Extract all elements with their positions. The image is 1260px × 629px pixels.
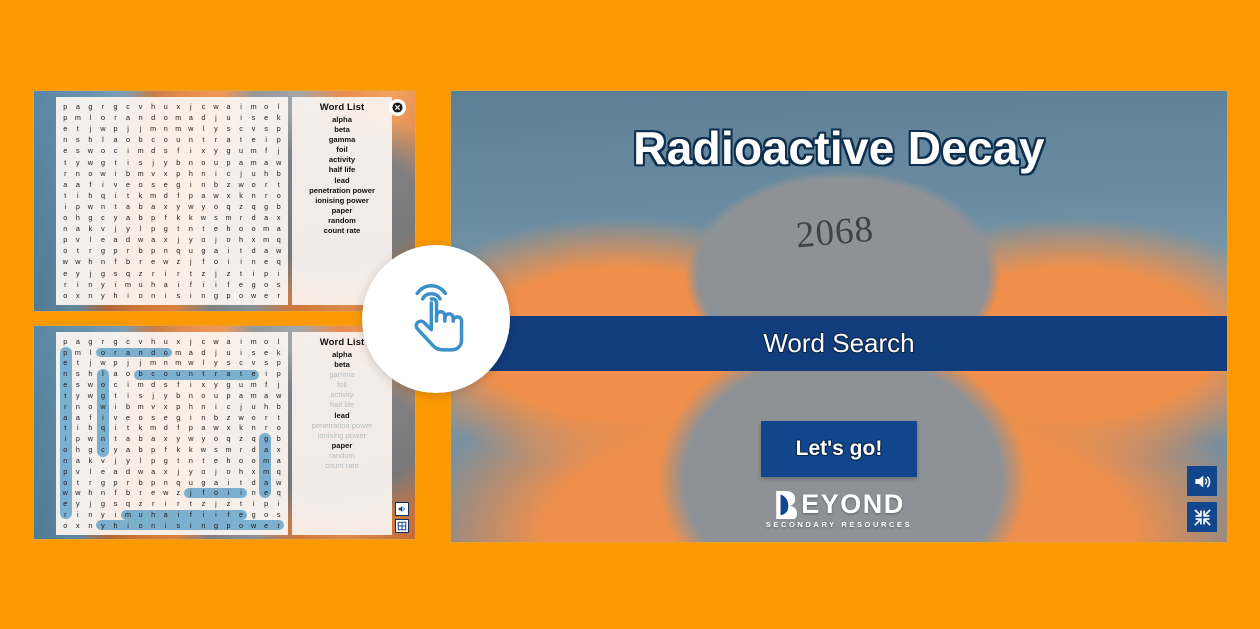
grid-cell[interactable]: i (172, 509, 185, 520)
grid-cell[interactable]: o (97, 347, 110, 358)
grid-cell[interactable]: o (59, 245, 72, 256)
grid-cell[interactable]: y (109, 444, 122, 455)
grid-cell[interactable]: i (272, 498, 285, 509)
grid-cell[interactable]: r (260, 179, 273, 190)
grid-cell[interactable]: l (272, 336, 285, 347)
grid-cell[interactable]: x (172, 336, 185, 347)
grid-cell[interactable]: x (159, 401, 172, 412)
grid-cell[interactable]: a (72, 101, 85, 112)
grid-cell[interactable]: m (122, 279, 135, 290)
grid-cell[interactable]: n (59, 455, 72, 466)
grid-cell[interactable]: c (97, 444, 110, 455)
grid-cell[interactable]: f (197, 488, 210, 499)
grid-cell[interactable]: n (247, 257, 260, 268)
grid-cell[interactable]: q (247, 433, 260, 444)
grid-cell[interactable]: i (122, 390, 135, 401)
grid-cell[interactable]: n (147, 520, 160, 531)
grid-cell[interactable]: a (159, 279, 172, 290)
grid-cell[interactable]: r (147, 498, 160, 509)
grid-cell[interactable]: r (210, 134, 223, 145)
grid-cell[interactable]: f (185, 509, 198, 520)
grid-cell[interactable]: e (247, 368, 260, 379)
grid-cell[interactable]: p (222, 390, 235, 401)
grid-cell[interactable]: c (222, 401, 235, 412)
grid-cell[interactable]: e (235, 509, 248, 520)
grid-cell[interactable]: f (84, 412, 97, 423)
grid-cell[interactable]: m (172, 347, 185, 358)
grid-cell[interactable]: w (235, 179, 248, 190)
grid-cell[interactable]: m (147, 423, 160, 434)
grid-cell[interactable]: a (122, 444, 135, 455)
grid-cell[interactable]: x (159, 168, 172, 179)
grid-cell[interactable]: e (59, 123, 72, 134)
grid-cell[interactable]: g (247, 509, 260, 520)
grid-cell[interactable]: e (59, 358, 72, 369)
grid-cell[interactable]: q (172, 477, 185, 488)
grid-cell[interactable]: m (134, 145, 147, 156)
grid-cell[interactable]: o (235, 520, 248, 531)
grid-cell[interactable]: a (122, 112, 135, 123)
grid-cell[interactable]: c (147, 134, 160, 145)
grid-cell[interactable]: a (109, 368, 122, 379)
grid-cell[interactable]: t (72, 123, 85, 134)
grid-cell[interactable]: p (222, 520, 235, 531)
grid-cell[interactable]: o (222, 466, 235, 477)
grid-cell[interactable]: r (172, 498, 185, 509)
grid-cell[interactable]: s (109, 268, 122, 279)
grid-cell[interactable]: i (72, 279, 85, 290)
grid-cell[interactable]: k (172, 444, 185, 455)
grid-cell[interactable]: b (272, 401, 285, 412)
grid-cell[interactable]: n (197, 401, 210, 412)
grid-cell[interactable]: x (197, 145, 210, 156)
grid-cell[interactable]: g (97, 245, 110, 256)
grid-cell[interactable]: b (122, 257, 135, 268)
grid-cell[interactable]: t (197, 368, 210, 379)
grid-cell[interactable]: a (235, 157, 248, 168)
wordsearch-grid-card-unsolved[interactable]: pagrgcvhuxjcwaimolpmlorandomadjuiseketjw… (56, 97, 288, 305)
grid-cell[interactable]: a (109, 234, 122, 245)
grid-cell[interactable]: v (134, 336, 147, 347)
grid-cell[interactable]: w (235, 412, 248, 423)
grid-cell[interactable]: l (84, 234, 97, 245)
grid-cell[interactable]: r (109, 112, 122, 123)
grid-cell[interactable]: a (122, 201, 135, 212)
grid-cell[interactable]: w (84, 379, 97, 390)
grid-cell[interactable]: q (122, 268, 135, 279)
grid-cell[interactable]: p (260, 268, 273, 279)
grid-cell[interactable]: l (84, 112, 97, 123)
sound-icon[interactable] (395, 502, 409, 516)
grid-cell[interactable]: z (134, 268, 147, 279)
grid-cell[interactable]: n (84, 290, 97, 301)
grid-cell[interactable]: r (235, 212, 248, 223)
grid-cell[interactable]: r (134, 257, 147, 268)
grid-cell[interactable]: b (134, 444, 147, 455)
grid-cell[interactable]: g (97, 498, 110, 509)
grid-cell[interactable]: c (235, 358, 248, 369)
grid-cell[interactable]: e (147, 257, 160, 268)
grid-cell[interactable]: j (210, 268, 223, 279)
grid-cell[interactable]: w (210, 336, 223, 347)
grid-cell[interactable]: e (159, 412, 172, 423)
grid-cell[interactable]: z (134, 498, 147, 509)
grid-cell[interactable]: p (147, 455, 160, 466)
grid-cell[interactable]: f (222, 279, 235, 290)
grid-cell[interactable]: u (134, 279, 147, 290)
grid-cell[interactable]: i (72, 423, 85, 434)
grid-cell[interactable]: a (185, 347, 198, 358)
grid-cell[interactable]: g (84, 212, 97, 223)
grid-cell[interactable]: e (210, 223, 223, 234)
grid-cell[interactable]: u (185, 477, 198, 488)
grid-cell[interactable]: e (260, 347, 273, 358)
grid-cell[interactable]: n (59, 134, 72, 145)
grid-cell[interactable]: b (272, 168, 285, 179)
grid-cell[interactable]: m (222, 212, 235, 223)
grid-cell[interactable]: j (272, 379, 285, 390)
grid-cell[interactable]: i (109, 190, 122, 201)
grid-cell[interactable]: b (134, 245, 147, 256)
grid-cell[interactable]: w (59, 488, 72, 499)
grid-cell[interactable]: h (72, 212, 85, 223)
grid-cell[interactable]: u (172, 368, 185, 379)
grid-cell[interactable]: i (185, 145, 198, 156)
grid-cell[interactable]: k (185, 212, 198, 223)
grid-cell[interactable]: p (222, 157, 235, 168)
grid-cell[interactable]: r (172, 268, 185, 279)
grid-cell[interactable]: j (185, 257, 198, 268)
grid-cell[interactable]: d (147, 347, 160, 358)
grid-cell[interactable]: k (235, 423, 248, 434)
grid-cell[interactable]: z (197, 498, 210, 509)
grid-cell[interactable]: t (235, 477, 248, 488)
grid-cell[interactable]: w (84, 145, 97, 156)
grid-cell[interactable]: a (147, 201, 160, 212)
grid-cell[interactable]: v (72, 234, 85, 245)
grid-cell[interactable]: a (122, 212, 135, 223)
grid-cell[interactable]: o (159, 134, 172, 145)
grid-cell[interactable]: q (97, 423, 110, 434)
grid-cell[interactable]: s (147, 412, 160, 423)
grid-cell[interactable]: y (97, 279, 110, 290)
grid-cell[interactable]: j (147, 390, 160, 401)
grid-cell[interactable]: n (72, 401, 85, 412)
grid-cell[interactable]: i (210, 168, 223, 179)
grid-cell[interactable]: h (185, 401, 198, 412)
grid-cell[interactable]: f (260, 145, 273, 156)
grid-cell[interactable]: n (59, 368, 72, 379)
grid-cell[interactable]: m (134, 401, 147, 412)
grid-cell[interactable]: e (97, 234, 110, 245)
grid-cell[interactable]: d (147, 379, 160, 390)
grid-cell[interactable]: n (159, 477, 172, 488)
grid-cell[interactable]: n (84, 520, 97, 531)
grid-cell[interactable]: d (247, 212, 260, 223)
grid-cell[interactable]: v (72, 466, 85, 477)
grid-cell[interactable]: i (247, 498, 260, 509)
grid-cell[interactable]: c (97, 212, 110, 223)
grid-cell[interactable]: r (272, 290, 285, 301)
grid-cell[interactable]: j (84, 123, 97, 134)
grid-cell[interactable]: z (172, 488, 185, 499)
grid-cell[interactable]: a (109, 466, 122, 477)
grid-cell[interactable]: q (172, 245, 185, 256)
grid-cell[interactable]: h (84, 257, 97, 268)
grid-cell[interactable]: a (260, 444, 273, 455)
grid-cell[interactable]: r (84, 477, 97, 488)
grid-cell[interactable]: w (84, 390, 97, 401)
grid-cell[interactable]: h (222, 223, 235, 234)
grid-cell[interactable]: o (260, 509, 273, 520)
grid-cell[interactable]: i (235, 488, 248, 499)
grid-cell[interactable]: u (210, 390, 223, 401)
grid-cell[interactable]: j (210, 347, 223, 358)
lets-go-button[interactable]: Let's go! (761, 421, 917, 477)
grid-cell[interactable]: i (122, 157, 135, 168)
grid-cell[interactable]: h (84, 368, 97, 379)
grid-cell[interactable]: w (97, 168, 110, 179)
grid-cell[interactable]: t (185, 268, 198, 279)
grid-cell[interactable]: v (247, 123, 260, 134)
grid-cell[interactable]: s (147, 179, 160, 190)
grid-cell[interactable]: a (222, 134, 235, 145)
grid-cell[interactable]: s (134, 157, 147, 168)
grid-cell[interactable]: a (260, 245, 273, 256)
grid-cell[interactable]: i (222, 477, 235, 488)
grid-cell[interactable]: y (97, 509, 110, 520)
grid-cell[interactable]: p (109, 123, 122, 134)
grid-cell[interactable]: h (109, 290, 122, 301)
grid-cell[interactable]: e (159, 179, 172, 190)
grid-cell[interactable]: o (247, 412, 260, 423)
grid-cell[interactable]: t (235, 368, 248, 379)
grid-cell[interactable]: p (172, 401, 185, 412)
grid-cell[interactable]: o (134, 179, 147, 190)
grid-cell[interactable]: m (247, 390, 260, 401)
grid-cell[interactable]: n (97, 257, 110, 268)
grid-cell[interactable]: a (260, 390, 273, 401)
grid-cell[interactable]: y (172, 433, 185, 444)
grid-cell[interactable]: j (235, 401, 248, 412)
grid-cell[interactable]: g (84, 101, 97, 112)
grid-cell[interactable]: k (84, 223, 97, 234)
grid-cell[interactable]: f (84, 179, 97, 190)
grid-cell[interactable]: p (59, 466, 72, 477)
grid-cell[interactable]: v (134, 101, 147, 112)
grid-cell[interactable]: s (134, 390, 147, 401)
grid-cell[interactable]: q (222, 201, 235, 212)
grid-cell[interactable]: v (109, 412, 122, 423)
grid-cell[interactable]: m (134, 379, 147, 390)
grid-cell[interactable]: g (197, 245, 210, 256)
grid-cell[interactable]: o (260, 101, 273, 112)
grid-cell[interactable]: d (197, 347, 210, 358)
grid-cell[interactable]: i (109, 509, 122, 520)
grid-cell[interactable]: i (109, 401, 122, 412)
grid-cell[interactable]: i (159, 498, 172, 509)
grid-cell[interactable]: z (235, 201, 248, 212)
grid-cell[interactable]: p (59, 112, 72, 123)
grid-cell[interactable]: p (72, 433, 85, 444)
grid-cell[interactable]: w (97, 358, 110, 369)
grid-cell[interactable]: c (109, 145, 122, 156)
grid-cell[interactable]: m (247, 379, 260, 390)
grid-cell[interactable]: g (210, 520, 223, 531)
grid-cell[interactable]: a (159, 509, 172, 520)
grid-cell[interactable]: k (84, 455, 97, 466)
grid-cell[interactable]: i (59, 201, 72, 212)
grid-cell[interactable]: g (172, 179, 185, 190)
grid-cell[interactable]: u (134, 509, 147, 520)
grid-cell[interactable]: g (97, 390, 110, 401)
grid-cell[interactable]: o (235, 290, 248, 301)
grid-cell[interactable]: t (172, 455, 185, 466)
grid-cell[interactable]: y (197, 201, 210, 212)
grid-cell[interactable]: f (159, 444, 172, 455)
grid-cell[interactable]: q (247, 201, 260, 212)
grid-cell[interactable]: i (72, 509, 85, 520)
grid-icon[interactable] (395, 519, 409, 533)
grid-cell[interactable]: f (172, 190, 185, 201)
grid-cell[interactable]: r (260, 412, 273, 423)
grid-cell[interactable]: p (72, 201, 85, 212)
grid-cell[interactable]: o (84, 168, 97, 179)
grid-cell[interactable]: a (122, 347, 135, 358)
grid-cell[interactable]: n (247, 488, 260, 499)
grid-cell[interactable]: h (72, 444, 85, 455)
grid-cell[interactable]: i (185, 179, 198, 190)
grid-cell[interactable]: o (235, 455, 248, 466)
grid-cell[interactable]: l (97, 134, 110, 145)
grid-cell[interactable]: p (272, 123, 285, 134)
grid-cell[interactable]: a (72, 223, 85, 234)
grid-cell[interactable]: a (260, 477, 273, 488)
grid-cell[interactable]: h (147, 101, 160, 112)
grid-cell[interactable]: j (185, 488, 198, 499)
grid-cell[interactable]: o (97, 379, 110, 390)
grid-cell[interactable]: t (59, 390, 72, 401)
grid-cell[interactable]: f (260, 379, 273, 390)
grid-cell[interactable]: g (97, 268, 110, 279)
grid-cell[interactable]: h (109, 520, 122, 531)
grid-cell[interactable]: e (260, 257, 273, 268)
grid-cell[interactable]: m (172, 123, 185, 134)
grid-cell[interactable]: m (172, 358, 185, 369)
grid-cell[interactable]: r (260, 423, 273, 434)
grid-cell[interactable]: x (159, 466, 172, 477)
grid-cell[interactable]: k (172, 212, 185, 223)
grid-cell[interactable]: t (235, 134, 248, 145)
grid-cell[interactable]: s (159, 145, 172, 156)
grid-cell[interactable]: d (159, 423, 172, 434)
grid-cell[interactable]: p (59, 234, 72, 245)
grid-cell[interactable]: b (122, 168, 135, 179)
grid-cell[interactable]: n (134, 347, 147, 358)
grid-cell[interactable]: y (159, 390, 172, 401)
grid-cell[interactable]: w (210, 190, 223, 201)
grid-cell[interactable]: x (72, 520, 85, 531)
grid-cell[interactable]: p (147, 212, 160, 223)
grid-cell[interactable]: s (210, 212, 223, 223)
grid-cell[interactable]: y (97, 290, 110, 301)
grid-cell[interactable]: p (272, 368, 285, 379)
grid-cell[interactable]: d (147, 112, 160, 123)
grid-cell[interactable]: y (109, 212, 122, 223)
grid-cell[interactable]: i (197, 279, 210, 290)
grid-cell[interactable]: r (235, 444, 248, 455)
grid-cell[interactable]: n (185, 455, 198, 466)
grid-cell[interactable]: i (185, 290, 198, 301)
grid-cell[interactable]: m (260, 455, 273, 466)
grid-cell[interactable]: f (172, 145, 185, 156)
grid-cell[interactable]: h (147, 336, 160, 347)
wordsearch-preview-solved[interactable]: pagrgcvhuxjcwaimolpmlorandomadjuiseketjw… (33, 325, 416, 540)
grid-cell[interactable]: c (122, 336, 135, 347)
grid-cell[interactable]: g (97, 477, 110, 488)
grid-cell[interactable]: g (84, 336, 97, 347)
grid-cell[interactable]: a (260, 212, 273, 223)
grid-cell[interactable]: f (109, 488, 122, 499)
grid-cell[interactable]: s (260, 358, 273, 369)
grid-cell[interactable]: t (197, 455, 210, 466)
grid-cell[interactable]: u (172, 134, 185, 145)
grid-cell[interactable]: r (84, 245, 97, 256)
grid-cell[interactable]: n (147, 290, 160, 301)
grid-cell[interactable]: y (122, 455, 135, 466)
grid-cell[interactable]: u (159, 336, 172, 347)
grid-cell[interactable]: b (134, 212, 147, 223)
grid-cell[interactable]: n (197, 412, 210, 423)
grid-cell[interactable]: w (97, 123, 110, 134)
grid-cell[interactable]: h (235, 234, 248, 245)
grid-cell[interactable]: i (122, 520, 135, 531)
grid-cell[interactable]: m (260, 466, 273, 477)
grid-cell[interactable]: e (260, 290, 273, 301)
grid-cell[interactable]: i (109, 168, 122, 179)
grid-cell[interactable]: k (185, 444, 198, 455)
grid-cell[interactable]: r (122, 477, 135, 488)
grid-cell[interactable]: o (235, 223, 248, 234)
grid-cell[interactable]: o (197, 466, 210, 477)
grid-cell[interactable]: a (210, 245, 223, 256)
grid-cell[interactable]: q (122, 498, 135, 509)
grid-cell[interactable]: p (185, 423, 198, 434)
grid-cell[interactable]: i (109, 423, 122, 434)
grid-cell[interactable]: p (147, 223, 160, 234)
grid-cell[interactable]: e (260, 488, 273, 499)
grid-cell[interactable]: a (197, 190, 210, 201)
grid-cell[interactable]: x (222, 423, 235, 434)
grid-cell[interactable]: o (247, 179, 260, 190)
grid-cell[interactable]: j (172, 234, 185, 245)
grid-cell[interactable]: d (247, 245, 260, 256)
grid-cell[interactable]: k (134, 190, 147, 201)
grid-cell[interactable]: o (59, 290, 72, 301)
grid-cell[interactable]: w (72, 488, 85, 499)
grid-cell[interactable]: e (59, 145, 72, 156)
grid-cell[interactable]: g (222, 145, 235, 156)
grid-cell[interactable]: n (197, 168, 210, 179)
grid-cell[interactable]: i (159, 268, 172, 279)
grid-cell[interactable]: a (197, 423, 210, 434)
grid-cell[interactable]: w (272, 390, 285, 401)
grid-cell[interactable]: i (260, 134, 273, 145)
grid-cell[interactable]: c (147, 368, 160, 379)
grid-cell[interactable]: v (147, 168, 160, 179)
grid-cell[interactable]: w (159, 257, 172, 268)
grid-cell[interactable]: n (72, 168, 85, 179)
